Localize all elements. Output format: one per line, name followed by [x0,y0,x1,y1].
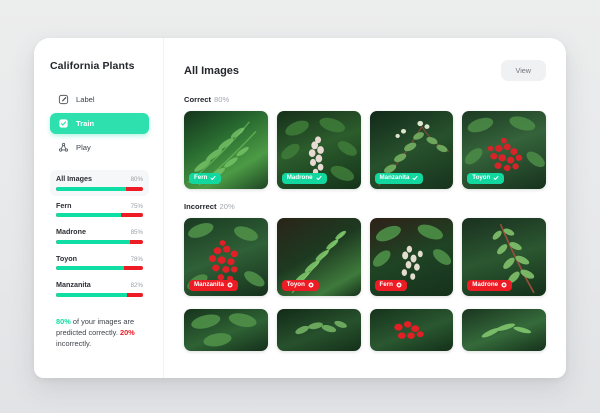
summary-text-end: incorrectly. [56,339,91,348]
image-card[interactable]: Manzanita [184,218,268,296]
error-circle-icon [501,282,507,288]
plant-photo-partial [370,309,454,351]
stat-row[interactable]: Toyon 78% [50,250,149,276]
stat-row[interactable]: Madrone 85% [50,223,149,249]
sidebar-item-label-text: Label [76,95,95,104]
badge-label: Madrone [472,282,498,288]
error-circle-icon [396,282,402,288]
section-label-correct-pct: 80% [214,95,229,104]
accuracy-bar [56,266,143,270]
image-card[interactable] [184,309,268,351]
image-card[interactable]: Fern [184,111,268,189]
sidebar-item-play-text: Play [76,143,91,152]
sidebar: California Plants Label [34,38,164,378]
sidebar-item-train-text: Train [76,119,94,128]
page-title: All Images [184,65,239,77]
error-circle-icon [227,282,233,288]
accuracy-bar [56,213,143,217]
sidebar-item-label[interactable]: Label [50,89,149,110]
summary-correct-pct: 80% [56,317,71,326]
stat-name: Toyon [56,254,77,263]
accuracy-bar-fill [56,187,126,191]
image-card[interactable]: Madrone [277,111,361,189]
plant-photo-partial [462,309,546,351]
main-header: All Images View [184,60,546,81]
stat-name: All Images [56,174,92,183]
prediction-badge: Fern [189,173,221,184]
share-nodes-icon [58,142,69,153]
badge-label: Toyon [472,175,490,181]
sidebar-item-train[interactable]: Train [50,113,149,134]
section-label-incorrect-pct: 20% [220,202,235,211]
app-title: California Plants [50,60,149,72]
check-icon [316,175,322,181]
accuracy-bar [56,293,143,297]
main-content: All Images View Correct80% [164,38,566,378]
check-icon [493,175,499,181]
section-label-correct: Correct80% [184,95,546,104]
image-card[interactable]: Fern [370,218,454,296]
stat-name: Manzanita [56,280,91,289]
accuracy-bar-fill [56,266,124,270]
tag-pen-icon [58,94,69,105]
image-card[interactable]: Toyon [462,111,546,189]
plant-photo-partial [277,309,361,351]
section-label-incorrect: Incorrect20% [184,202,546,211]
stat-row[interactable]: Fern 75% [50,197,149,223]
section-label-correct-text: Correct [184,95,211,104]
image-grid-incorrect: Manzanita [184,218,546,296]
accuracy-summary: 80% of your images are predicted correct… [50,316,149,350]
stat-name: Fern [56,201,72,210]
prediction-badge: Manzanita [375,173,424,184]
section-label-incorrect-text: Incorrect [184,202,217,211]
prediction-badge: Toyon [467,173,504,184]
badge-label: Fern [194,175,207,181]
prediction-badge: Fern [375,280,407,291]
image-card[interactable] [277,309,361,351]
app-window: California Plants Label [34,38,566,378]
image-grid-overflow-row [184,309,546,351]
page-background: California Plants Label [0,0,600,413]
stat-percent: 82% [131,282,143,289]
stat-percent: 85% [131,229,143,236]
stat-row[interactable]: All Images 80% [50,170,149,196]
check-icon [210,175,216,181]
sidebar-item-play[interactable]: Play [50,137,149,158]
badge-label: Manzanita [380,175,410,181]
image-card[interactable] [462,309,546,351]
stat-name: Madrone [56,227,86,236]
image-card[interactable]: Madrone [462,218,546,296]
image-card[interactable] [370,309,454,351]
accuracy-bar [56,187,143,191]
accuracy-bar-fill [56,240,130,244]
accuracy-bar-fill [56,213,121,217]
accuracy-bar [56,240,143,244]
badge-label: Madrone [287,175,313,181]
stat-row[interactable]: Manzanita 82% [50,276,149,302]
prediction-badge: Madrone [467,280,512,291]
stat-percent: 78% [131,256,143,263]
prediction-badge: Madrone [282,173,327,184]
badge-label: Toyon [287,282,305,288]
checked-square-icon [58,118,69,129]
class-stats-list: All Images 80% Fern 75% [50,170,149,302]
stat-percent: 75% [131,203,143,210]
image-card[interactable]: Toyon [277,218,361,296]
prediction-badge: Manzanita [189,280,238,291]
plant-photo-partial [184,309,268,351]
error-circle-icon [308,282,314,288]
sidebar-nav: Label Train [50,89,149,158]
image-card[interactable]: Manzanita [370,111,454,189]
badge-label: Manzanita [194,282,224,288]
check-icon [412,175,418,181]
image-grid-correct: Fern [184,111,546,189]
prediction-badge: Toyon [282,280,319,291]
accuracy-bar-fill [56,293,127,297]
view-button[interactable]: View [501,60,546,81]
summary-incorrect-pct: 20% [120,328,135,337]
stat-percent: 80% [131,176,143,183]
badge-label: Fern [380,282,393,288]
